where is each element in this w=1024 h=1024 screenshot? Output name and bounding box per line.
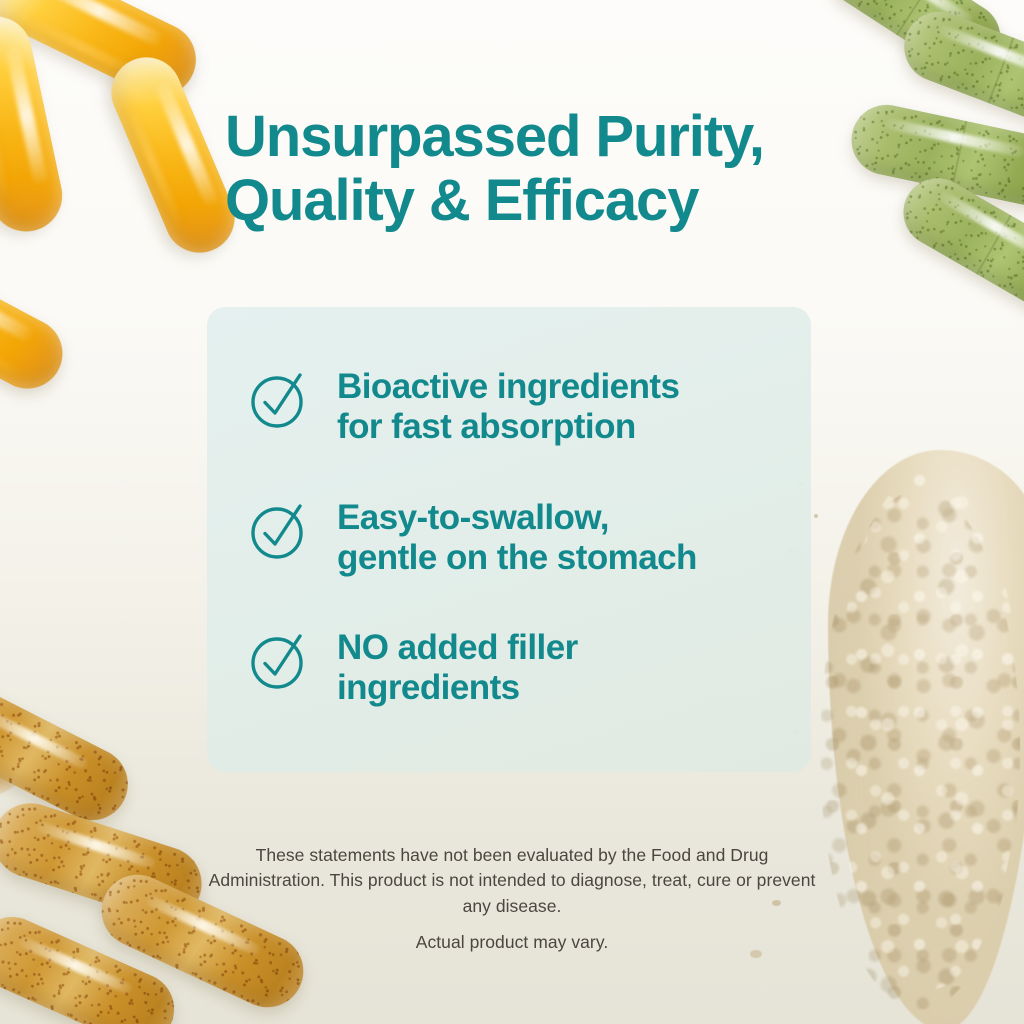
circle-check-icon <box>247 627 313 693</box>
product-variance-note: Actual product may vary. <box>202 932 822 953</box>
benefit-item: Easy-to-swallow, gentle on the stomach <box>247 495 792 578</box>
benefit-label: NO added filler ingredients <box>337 625 578 708</box>
promo-graphic: Unsurpassed Purity, Quality & Efficacy B… <box>0 0 1024 1024</box>
benefit-item: NO added filler ingredients <box>247 625 792 708</box>
fda-disclaimer: These statements have not been evaluated… <box>202 843 822 919</box>
circle-check-icon <box>247 366 313 432</box>
benefit-item: Bioactive ingredients for fast absorptio… <box>247 364 792 447</box>
turmeric-powder-spill <box>0 718 30 798</box>
headline-line-2: Quality & Efficacy <box>225 169 825 233</box>
green-capsules-top-right <box>790 0 1024 340</box>
benefit-label: Bioactive ingredients for fast absorptio… <box>337 364 679 447</box>
benefits-panel: Bioactive ingredients for fast absorptio… <box>207 307 811 772</box>
page-title: Unsurpassed Purity, Quality & Efficacy <box>225 105 825 234</box>
circle-check-icon <box>247 497 313 563</box>
benefit-label: Easy-to-swallow, gentle on the stomach <box>337 495 697 578</box>
headline-line-1: Unsurpassed Purity, <box>225 104 764 169</box>
